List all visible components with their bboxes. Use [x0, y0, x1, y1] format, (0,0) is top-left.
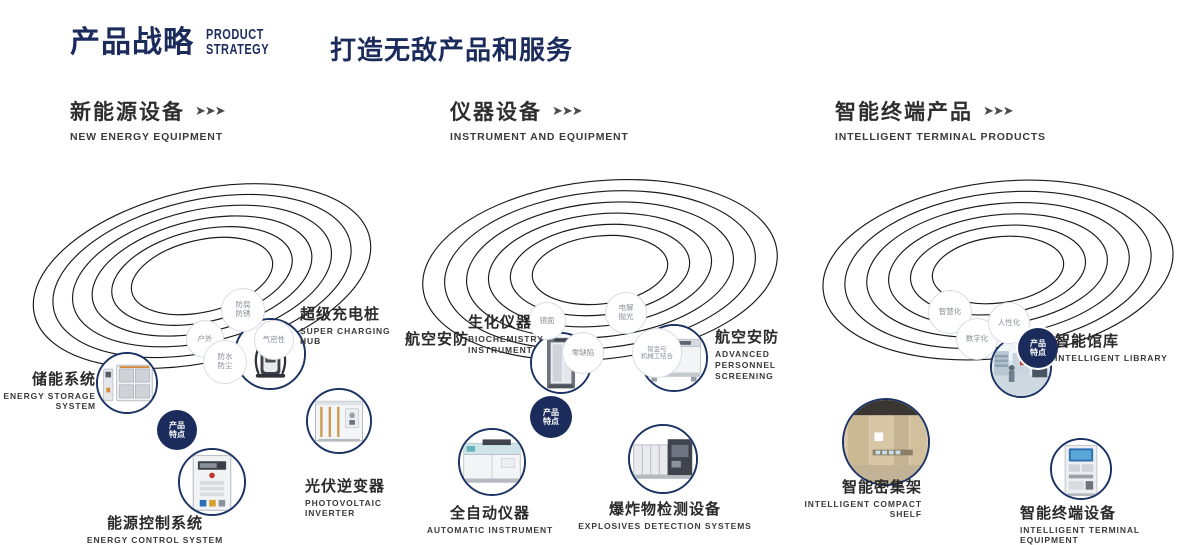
node-intelligent-compact-shelf[interactable] [842, 398, 930, 486]
label-cn: 智能馆库 [1055, 330, 1175, 351]
section-title-instrument: 仪器设备 ➤➤➤ INSTRUMENT AND EQUIPMENT [450, 96, 629, 143]
feature-label: 气密性 [263, 336, 286, 345]
label-en: BIOCHEMISTRY INSTRUMENT [468, 334, 538, 355]
feature-label: 人性化 [998, 319, 1021, 328]
orbit-rings [0, 150, 400, 400]
page-subtitle: 打造无敌产品和服务 [330, 30, 573, 67]
label-en: INTELLIGENT LIBRARY [1055, 353, 1175, 363]
feature-label: 户外 [198, 335, 213, 344]
feature-bubble: 气密性 [254, 320, 294, 360]
label-en: EXPLOSIVES DETECTION SYSTEMS [575, 521, 755, 531]
automatic-analyzer-icon [460, 430, 524, 494]
node-energy-storage-system[interactable] [96, 352, 158, 414]
page-title-en: PRODUCT STRATEGY [206, 28, 269, 58]
feature-label: 数字化 [966, 335, 989, 344]
label-cn: 航空安防 [405, 328, 469, 349]
label-en: ENERGY CONTROL SYSTEM [60, 535, 250, 545]
product-strategy-infographic: 产品战略 PRODUCT STRATEGY 打造无敌产品和服务 新能源设备 ➤➤… [0, 0, 1200, 422]
page-header: 产品战略 PRODUCT STRATEGY [70, 28, 269, 58]
chevron-right-icon: ➤➤➤ [195, 103, 225, 119]
section-title-terminal: 智能终端产品 ➤➤➤ INTELLIGENT TERMINAL PRODUCTS [835, 96, 1046, 143]
node-energy-control-system[interactable] [178, 448, 246, 516]
label-en: AUTOMATIC INSTRUMENT [400, 525, 580, 535]
core-badge-product-features: 产品 特点 [157, 410, 197, 450]
label-explosives-detection-systems: 爆炸物检测设备 EXPLOSIVES DETECTION SYSTEMS [575, 498, 755, 531]
feature-bubble: 钣金与 机械工结合 [632, 328, 682, 378]
node-automatic-instrument[interactable] [458, 428, 526, 496]
label-intelligent-terminal-equipment: 智能终端设备 INTELLIGENT TERMINAL EQUIPMENT [1020, 502, 1200, 545]
node-intelligent-terminal-equipment[interactable] [1050, 438, 1112, 500]
core-badge-label: 产品 特点 [1030, 339, 1046, 357]
feature-label: 钣金与 机械工结合 [641, 346, 673, 361]
label-en: ENERGY STORAGE SYSTEM [0, 391, 96, 411]
page-title-en-line2: STRATEGY [206, 43, 269, 58]
label-cn: 爆炸物检测设备 [575, 498, 755, 519]
feature-label: 电解 抛光 [619, 304, 634, 321]
core-badge-product-features: 产品 特点 [530, 396, 572, 438]
section-title-cn: 仪器设备 [450, 96, 542, 126]
label-aviation-security-overlap: 航空安防 [405, 328, 469, 349]
page-title: 产品战略 [70, 28, 194, 58]
label-cn: 生化仪器 [468, 311, 538, 332]
label-cn: 储能系统 [0, 368, 96, 389]
label-biochemistry-instrument: 生化仪器 BIOCHEMISTRY INSTRUMENT [468, 311, 538, 355]
label-en: INTELLIGENT TERMINAL EQUIPMENT [1020, 525, 1200, 545]
label-en: INTELLIGENT COMPACT SHELF [800, 499, 922, 519]
label-energy-storage-system: 储能系统 ENERGY STORAGE SYSTEM [0, 368, 96, 411]
feature-bubble: 电解 抛光 [605, 292, 647, 334]
label-cn: 智能密集架 [800, 476, 922, 497]
feature-label: 防水 防尘 [218, 353, 233, 370]
storage-cabinet-icon [98, 354, 156, 412]
chevron-right-icon: ➤➤➤ [983, 103, 1013, 119]
inverter-cabinet-icon [308, 390, 370, 452]
feature-label: 防腐 防锈 [236, 301, 251, 318]
label-automatic-instrument: 全自动仪器 AUTOMATIC INSTRUMENT [400, 502, 580, 535]
label-cn: 航空安防 [715, 326, 810, 347]
label-en: ADVANCED PERSONNEL SCREENING [715, 349, 810, 382]
core-badge-label: 产品 特点 [169, 421, 185, 439]
section-title-en: INSTRUMENT AND EQUIPMENT [450, 131, 629, 143]
label-energy-control-system: 能源控制系统 ENERGY CONTROL SYSTEM [60, 512, 250, 545]
control-cabinet-icon [180, 450, 244, 514]
label-cn: 智能终端设备 [1020, 502, 1200, 523]
feature-label: 镜面 [540, 317, 555, 326]
label-cn: 超级充电桩 [300, 303, 400, 324]
panel-terminal: 智慧化 数字化 人性化 产品 特点 智能馆库 INTELLIGENT LIBRA… [800, 150, 1200, 400]
label-en: SUPER CHARGING HUB [300, 326, 400, 346]
core-badge-product-features: 产品 特点 [1018, 328, 1058, 368]
explosives-detector-icon [630, 426, 696, 492]
section-title-en: INTELLIGENT TERMINAL PRODUCTS [835, 131, 1046, 143]
label-super-charging-hub: 超级充电桩 SUPER CHARGING HUB [300, 303, 400, 346]
section-title-en: NEW ENERGY EQUIPMENT [70, 131, 225, 143]
feature-label: 零缺陷 [572, 349, 595, 358]
label-intelligent-compact-shelf: 智能密集架 INTELLIGENT COMPACT SHELF [800, 476, 922, 519]
section-title-cn: 新能源设备 [70, 96, 185, 126]
panel-instrument: 镜面 电解 抛光 钣金与 机械工结合 零缺陷 产品 特点 航空安防 生化仪器 B… [400, 150, 800, 400]
feature-label: 智慧化 [939, 308, 962, 317]
section-title-new-energy: 新能源设备 ➤➤➤ NEW ENERGY EQUIPMENT [70, 96, 225, 143]
compact-shelf-icon [844, 400, 928, 484]
core-badge-label: 产品 特点 [543, 408, 559, 426]
label-intelligent-library: 智能馆库 INTELLIGENT LIBRARY [1055, 330, 1175, 363]
label-advanced-personnel-screening: 航空安防 ADVANCED PERSONNEL SCREENING [715, 326, 810, 382]
terminal-kiosk-icon [1052, 440, 1110, 498]
panel-new-energy: 户外 防腐 防锈 防水 防尘 气密性 产品 特点 超级充电桩 SUPER CHA… [0, 150, 400, 400]
label-cn: 光伏逆变器 [305, 475, 400, 496]
feature-bubble: 防水 防尘 [203, 340, 247, 384]
node-photovoltaic-inverter[interactable] [306, 388, 372, 454]
node-explosives-detection-systems[interactable] [628, 424, 698, 494]
label-photovoltaic-inverter: 光伏逆变器 PHOTOVOLTAIC INVERTER [305, 475, 400, 518]
label-cn: 全自动仪器 [400, 502, 580, 523]
feature-bubble: 零缺陷 [562, 332, 604, 374]
section-title-cn: 智能终端产品 [835, 96, 973, 126]
chevron-right-icon: ➤➤➤ [552, 103, 582, 119]
label-en: PHOTOVOLTAIC INVERTER [305, 498, 400, 518]
label-cn: 能源控制系统 [60, 512, 250, 533]
